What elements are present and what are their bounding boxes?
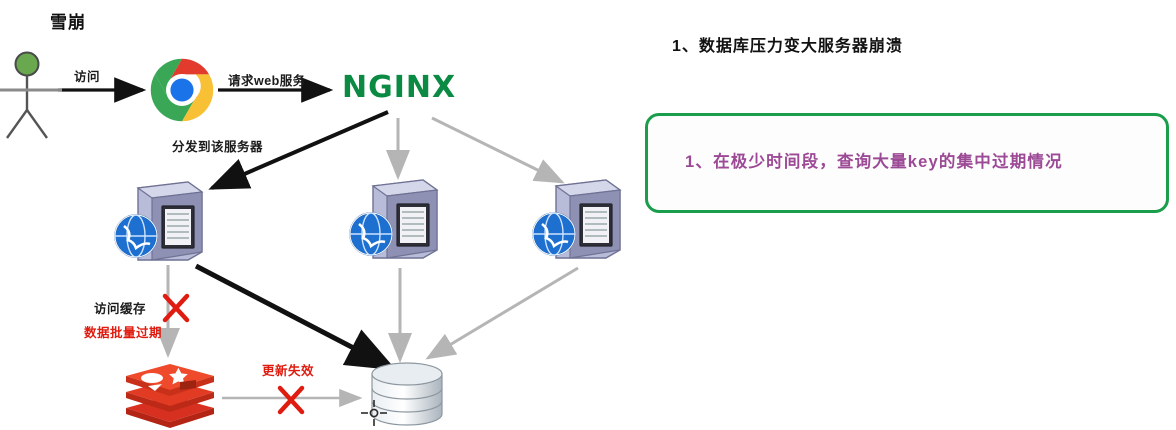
page-title: 雪崩 xyxy=(50,8,86,33)
label-dispatch: 分发到该服务器 xyxy=(172,136,263,155)
x-marks-layer xyxy=(0,0,1176,430)
label-visit: 访问 xyxy=(74,66,100,85)
label-update-invalid: 更新失效 xyxy=(262,360,314,379)
right-panel-heading: 1、数据库压力变大服务器崩溃 xyxy=(672,32,903,56)
label-batch-expire: 数据批量过期 xyxy=(84,322,162,341)
crosshair-cursor xyxy=(361,400,387,426)
label-access-cache: 访问缓存 xyxy=(94,298,146,317)
highlight-box: 1、在极少时间段，查询大量key的集中过期情况 xyxy=(645,113,1169,213)
diagram-canvas: NGINX xyxy=(0,0,1176,430)
label-request-web: 请求web服务 xyxy=(228,70,306,89)
highlight-box-text: 1、在极少时间段，查询大量key的集中过期情况 xyxy=(685,148,1063,172)
